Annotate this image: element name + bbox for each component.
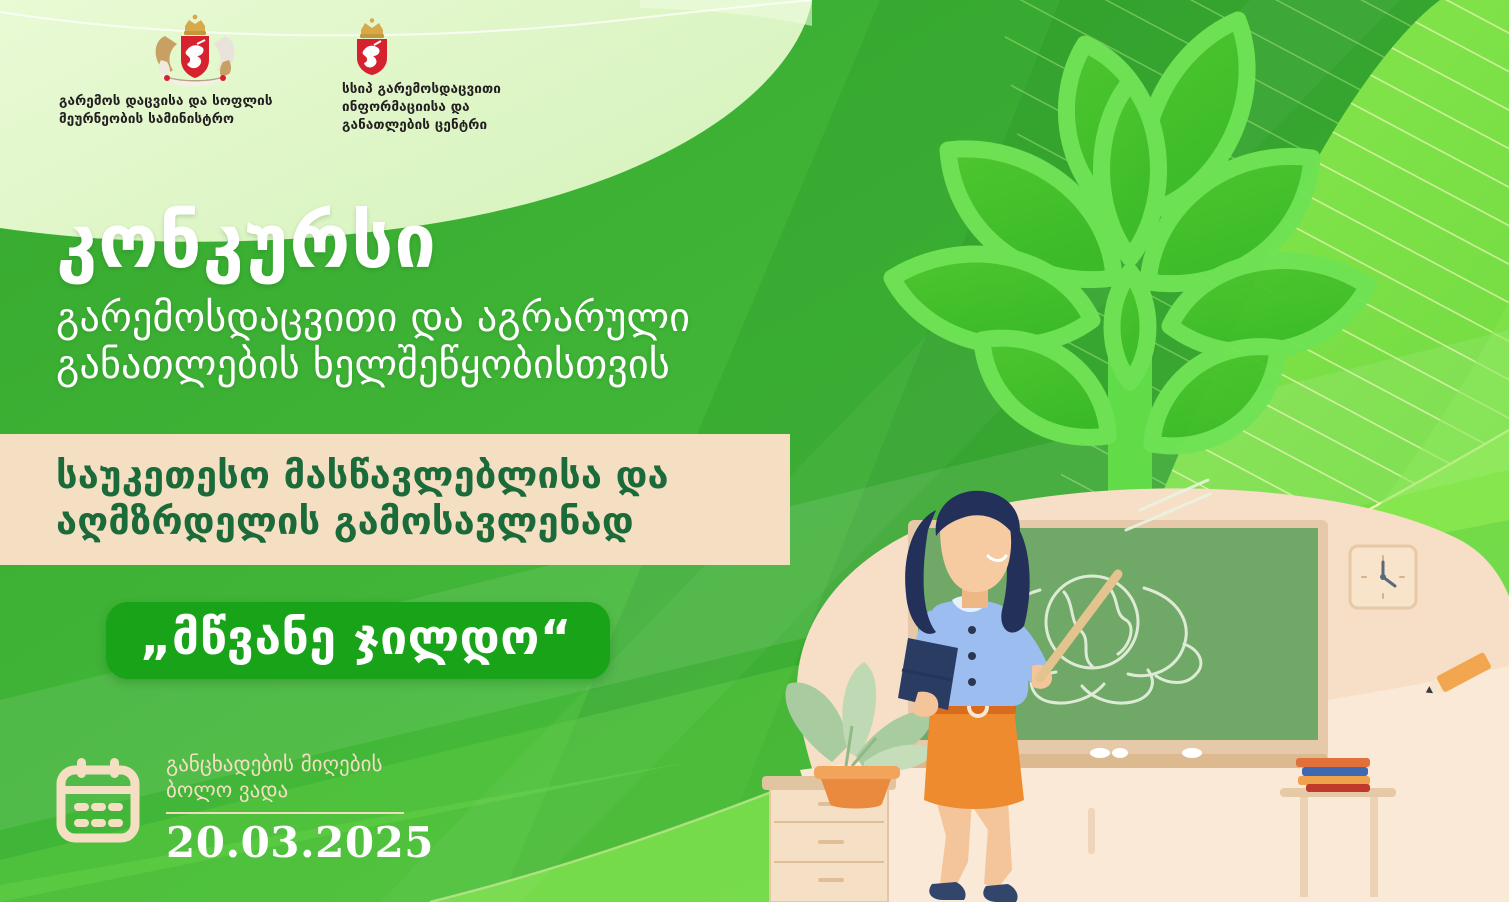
purpose-banner-line2: აღმზრდელის გამოსავლენად bbox=[56, 498, 760, 544]
stylized-leaf-tree-icon bbox=[870, 0, 1390, 550]
subtitle-line1: გარემოსდაცვითი და აგრარული bbox=[56, 295, 690, 342]
center-logo-block: სსიპ გარემოსდაცვითი ინფორმაციისა და განა… bbox=[340, 18, 590, 135]
deadline-block: განცხადების მიღების ბოლო ვადა 20.03.2025 bbox=[52, 748, 434, 867]
deadline-label: განცხადების მიღების ბოლო ვადა bbox=[166, 752, 434, 803]
ministry-name-line1: გარემოს დაცვისა და სოფლის bbox=[59, 92, 335, 110]
headline-block: კონკურსი გარემოსდაცვითი და აგრარული განა… bbox=[56, 205, 690, 389]
ministry-name: გარემოს დაცვისა და სოფლის მეურნეობის სამ… bbox=[55, 92, 335, 128]
poster-root: გარემოს დაცვისა და სოფლის მეურნეობის სამ… bbox=[0, 0, 1509, 902]
georgia-shield-crest-icon bbox=[348, 18, 396, 76]
deadline-label-line2: ბოლო ვადა bbox=[166, 778, 434, 804]
ministry-name-line2: მეურნეობის სამინისტრო bbox=[59, 110, 335, 128]
page-title: კონკურსი bbox=[56, 205, 690, 279]
purpose-banner: საუკეთესო მასწავლებლისა და აღმზრდელის გა… bbox=[0, 434, 790, 565]
subtitle-line2: განათლების ხელშეწყობისთვის bbox=[56, 342, 690, 389]
header-logos: გარემოს დაცვისა და სოფლის მეურნეობის სამ… bbox=[0, 0, 900, 150]
center-name-line3: განათლების ცენტრი bbox=[342, 116, 590, 134]
subtitle: გარემოსდაცვითი და აგრარული განათლების ხე… bbox=[56, 295, 690, 389]
award-name-label: „მწვანე ჯილდო“ bbox=[140, 612, 572, 665]
classroom-illustration bbox=[740, 470, 1509, 902]
ministry-logo-block: გარემოს დაცვისა და სოფლის მეურნეობის სამ… bbox=[55, 14, 335, 128]
center-name-line2: ინფორმაციისა და bbox=[342, 98, 590, 116]
center-name-line1: სსიპ გარემოსდაცვითი bbox=[342, 80, 590, 98]
deadline-text: განცხადების მიღების ბოლო ვადა 20.03.2025 bbox=[166, 748, 434, 867]
deadline-date: 20.03.2025 bbox=[166, 818, 434, 867]
center-name: სსიპ გარემოსდაცვითი ინფორმაციისა და განა… bbox=[340, 80, 590, 135]
calendar-icon bbox=[52, 754, 144, 846]
purpose-banner-line1: საუკეთესო მასწავლებლისა და bbox=[56, 452, 760, 498]
deadline-label-line1: განცხადების მიღების bbox=[166, 752, 434, 778]
georgia-coat-of-arms-icon bbox=[147, 14, 243, 88]
award-name-badge: „მწვანე ჯილდო“ bbox=[106, 602, 610, 679]
deadline-divider bbox=[166, 812, 404, 814]
